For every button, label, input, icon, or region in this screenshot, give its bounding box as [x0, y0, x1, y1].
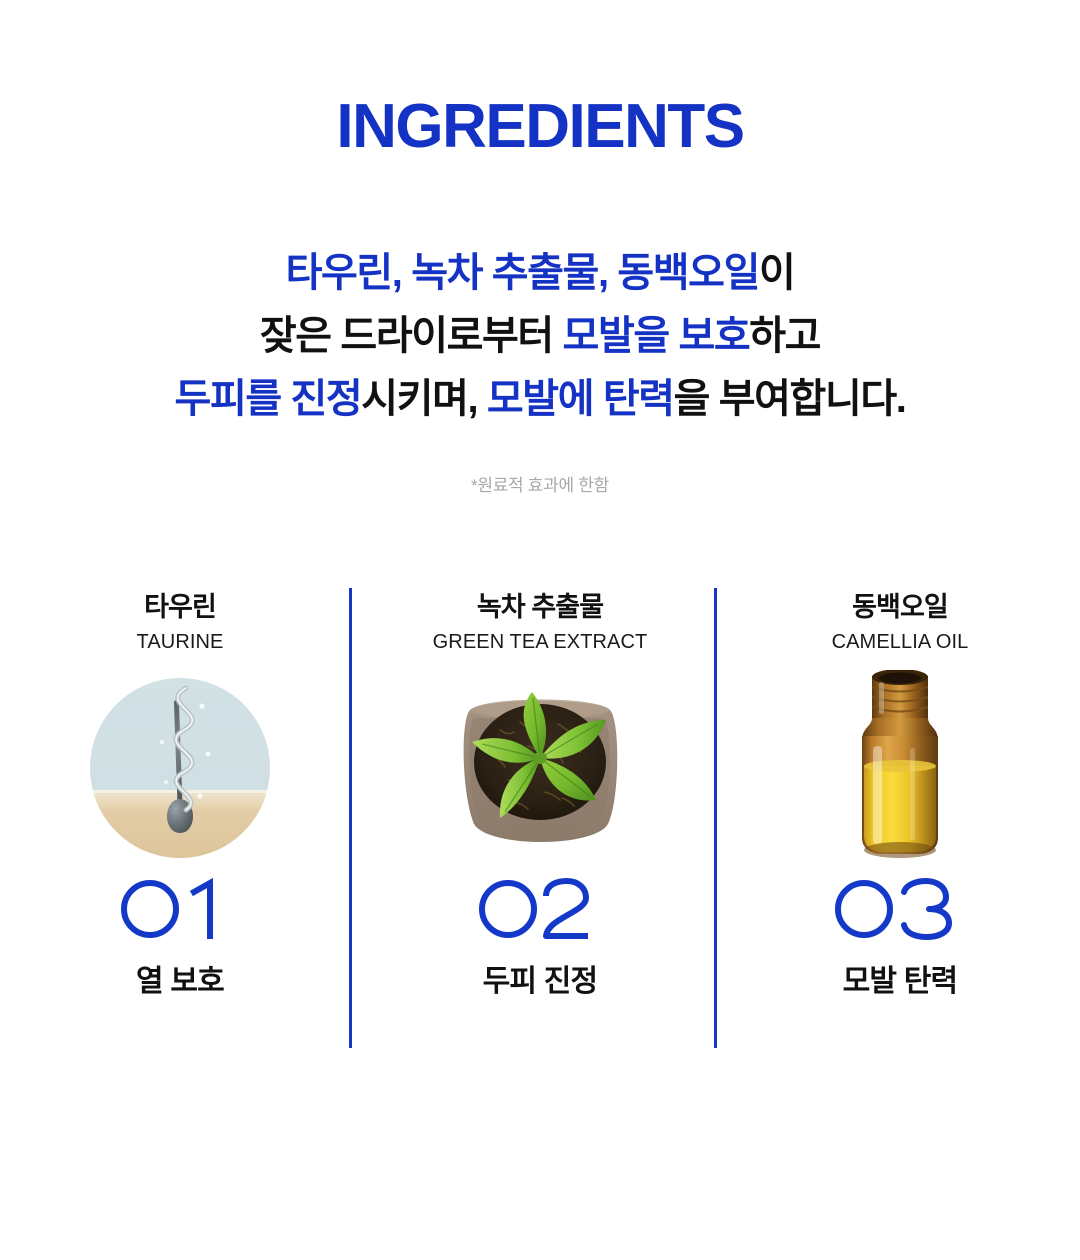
- hair-follicle-circle-image: [80, 670, 280, 860]
- camellia-oil-bottle-image: [800, 670, 1000, 860]
- headline-segment: 타우린, 녹차 추출물, 동백오일: [286, 251, 759, 295]
- headline-segment: 이: [759, 251, 794, 295]
- headline-line-3: 두피를 진정시키며, 모발에 탄력을 부여합니다.: [0, 368, 1080, 431]
- green-tea-sack-image: [440, 670, 640, 860]
- ingredient-name-en: GREEN TEA EXTRACT: [433, 629, 648, 656]
- tea-sack-shape: [448, 676, 632, 852]
- ingredient-card-taurine: 타우린 TAURINE: [0, 588, 360, 1058]
- headline-segment: 하고: [749, 314, 820, 358]
- ingredient-card-green-tea: 녹차 추출물 GREEN TEA EXTRACT: [360, 588, 720, 1058]
- ingredient-name-kr: 타우린: [144, 590, 216, 624]
- headline-segment: 을 부여합니다.: [674, 377, 906, 421]
- footnote-text: *원료적 효과에 한함: [0, 474, 1080, 498]
- headline-block: 타우린, 녹차 추출물, 동백오일이 잦은 드라이로부터 모발을 보호하고 두피…: [0, 242, 1080, 431]
- page-title: INGREDIENTS: [0, 91, 1080, 163]
- ingredient-caption: 두피 진정: [483, 964, 598, 1000]
- headline-segment: 모발을 보호: [563, 314, 750, 358]
- oil-bottle-shape: [848, 670, 952, 860]
- ingredient-caption: 열 보호: [136, 964, 224, 1000]
- headline-segment: 잦은 드라이로부터: [260, 314, 563, 358]
- number-03-glyph: [830, 878, 970, 940]
- headline-segment: 두피를 진정: [175, 377, 362, 421]
- ingredients-page: INGREDIENTS 타우린, 녹차 추출물, 동백오일이 잦은 드라이로부터…: [0, 0, 1080, 1260]
- ingredient-number: [830, 878, 970, 940]
- ingredient-name-en: CAMELLIA OIL: [832, 629, 969, 656]
- number-01-glyph: [114, 878, 246, 940]
- water-spiral-icon: [128, 684, 232, 824]
- ingredient-card-camellia-oil: 동백오일 CAMELLIA OIL: [720, 588, 1080, 1058]
- follicle-circle-shape: [90, 678, 270, 858]
- headline-segment: 모발에 탄력: [487, 377, 674, 421]
- headline-line-1: 타우린, 녹차 추출물, 동백오일이: [0, 242, 1080, 305]
- headline-line-2: 잦은 드라이로부터 모발을 보호하고: [0, 305, 1080, 368]
- ingredient-number: [474, 878, 606, 940]
- ingredient-number: [114, 878, 246, 940]
- headline-segment: 시키며,: [361, 377, 487, 421]
- ingredient-caption: 모발 탄력: [843, 964, 958, 1000]
- ingredient-columns: 타우린 TAURINE: [0, 588, 1080, 1058]
- number-02-glyph: [474, 878, 606, 940]
- ingredient-name-en: TAURINE: [137, 629, 224, 656]
- ingredient-name-kr: 동백오일: [852, 590, 948, 624]
- ingredient-name-kr: 녹차 추출물: [477, 590, 603, 624]
